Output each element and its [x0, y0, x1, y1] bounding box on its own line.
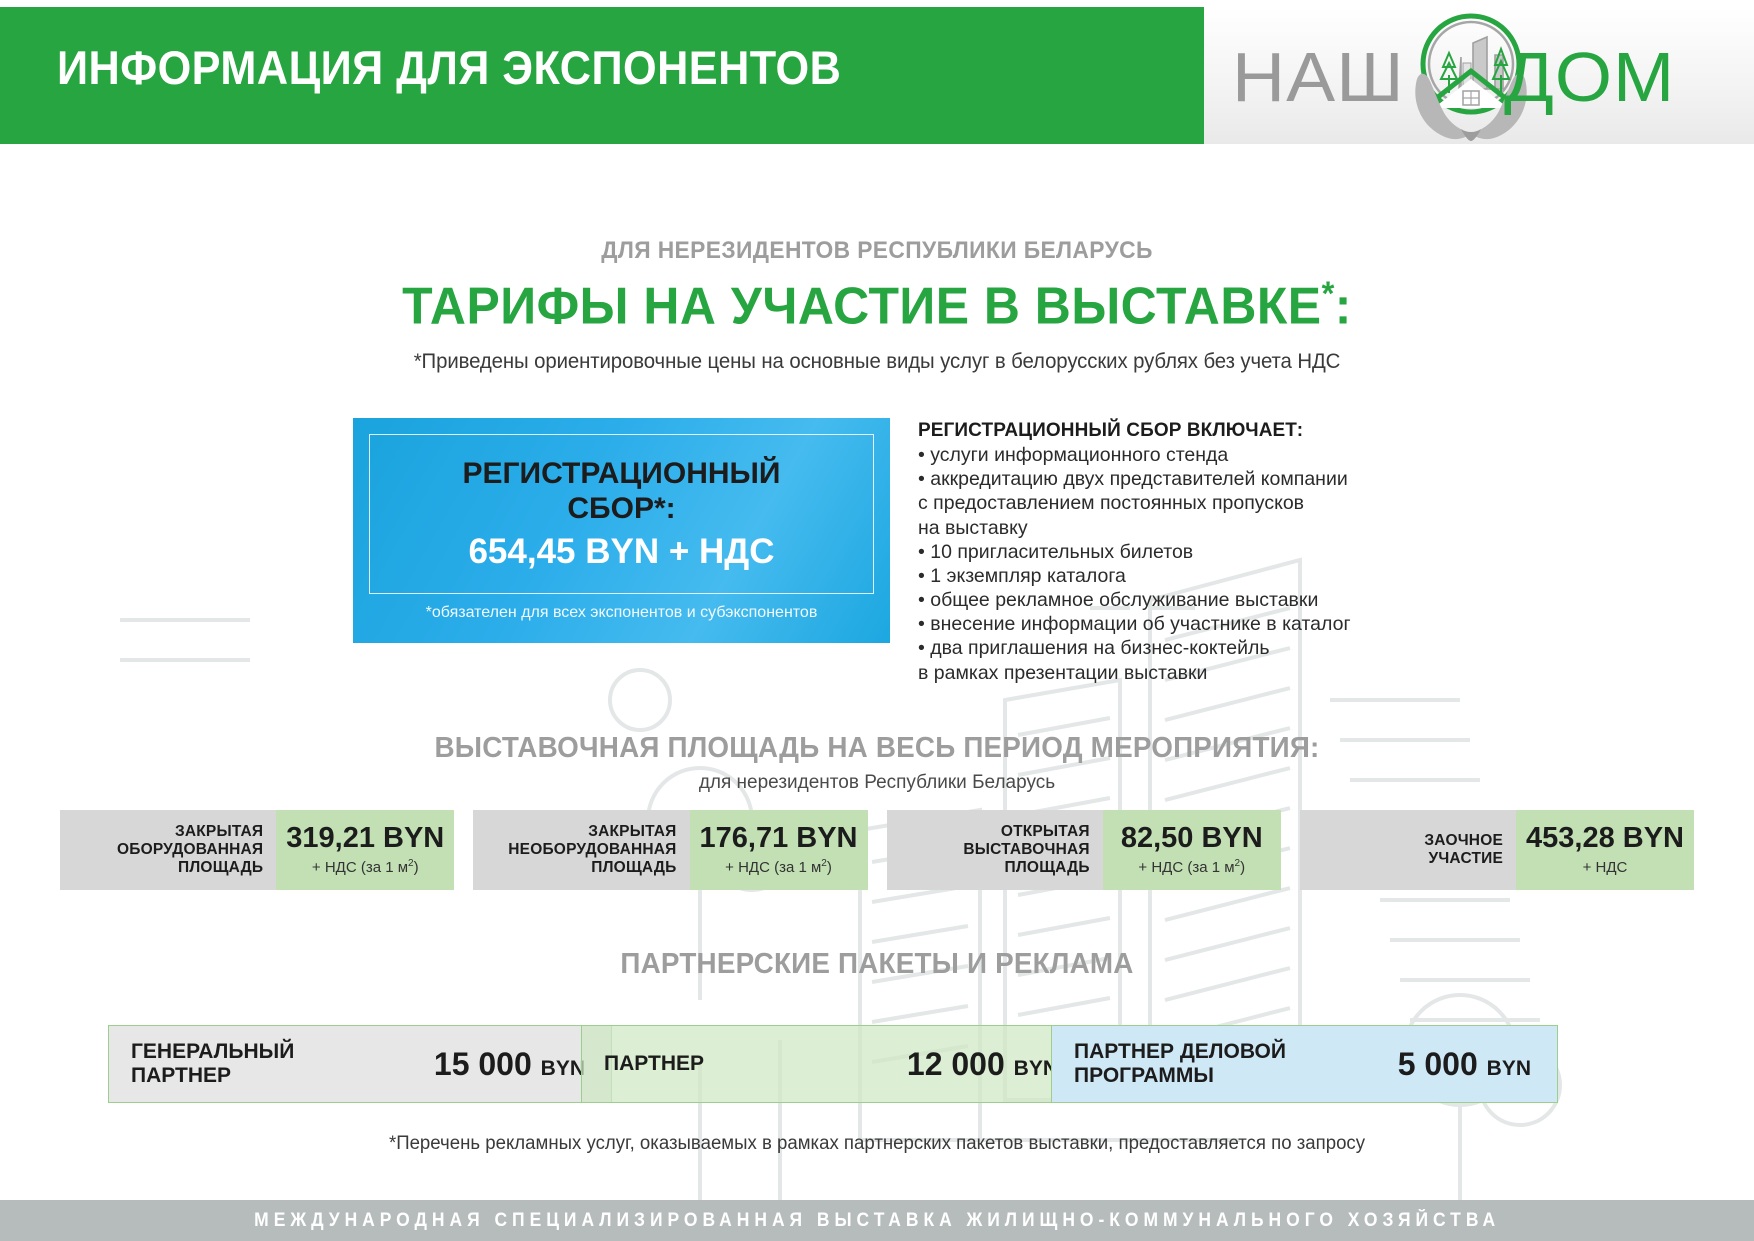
list-item: • услуги информационного стенда — [918, 443, 1518, 467]
area-price-cards: ЗАКРЫТАЯ ОБОРУДОВАННАЯ ПЛОЩАДЬ 319,21 BY… — [60, 810, 1694, 890]
area-card-amount: 176,71 BYN — [700, 824, 858, 853]
partners-section-heading: ПАРТНЕРСКИЕ ПАКЕТЫ И РЕКЛАМА — [35, 948, 1719, 981]
partner-card-currency: BYN — [541, 1057, 585, 1080]
registration-fee-title: РЕГИСТРАЦИОННЫЙ СБОР*: — [412, 456, 832, 527]
area-card-price: 319,21 BYN + НДС (за 1 м2) — [276, 810, 454, 890]
area-card-vat: + НДС (за 1 м2) — [725, 858, 832, 876]
list-item: • аккредитацию двух представителей компа… — [918, 467, 1518, 540]
partner-card-amount: 5 000 — [1398, 1046, 1478, 1082]
area-card-vat: + НДС (за 1 м2) — [312, 858, 419, 876]
area-card-vat-tail: ) — [414, 859, 419, 876]
area-card-vat-text: + НДС — [1583, 859, 1628, 876]
registration-includes-block: РЕГИСТРАЦИОННЫЙ СБОР ВКЛЮЧАЕТ: • услуги … — [918, 420, 1518, 685]
area-card-vat-text: + НДС (за 1 м — [312, 859, 408, 876]
area-section-heading: ВЫСТАВОЧНАЯ ПЛОЩАДЬ НА ВЕСЬ ПЕРИОД МЕРОП… — [35, 732, 1719, 765]
partner-card: ПАРТНЕР ДЕЛОВОЙ ПРОГРАММЫ 5 000 BYN — [1051, 1025, 1558, 1103]
area-card: ОТКРЫТАЯ ВЫСТАВОЧНАЯ ПЛОЩАДЬ 82,50 BYN +… — [887, 810, 1281, 890]
area-card-label: ЗАКРЫТАЯ ОБОРУДОВАННАЯ ПЛОЩАДЬ — [60, 810, 276, 890]
partner-card-currency: BYN — [1487, 1057, 1531, 1080]
list-item: • общее рекламное обслуживание выставки — [918, 588, 1518, 612]
area-card-label: ЗАОЧНОЕ УЧАСТИЕ — [1300, 810, 1516, 890]
advertising-note: *Перечень рекламных услуг, оказываемых в… — [18, 1133, 1737, 1155]
area-card-label: ОТКРЫТАЯ ВЫСТАВОЧНАЯ ПЛОЩАДЬ — [887, 810, 1103, 890]
area-card-price: 82,50 BYN + НДС (за 1 м2) — [1103, 810, 1281, 890]
registration-includes-title: РЕГИСТРАЦИОННЫЙ СБОР ВКЛЮЧАЕТ: — [918, 420, 1518, 442]
partner-card-name: ПАРТНЕР — [582, 1052, 907, 1076]
price-disclaimer: *Приведены ориентировочные цены на основ… — [26, 350, 1727, 374]
page-footer: МЕЖДУНАРОДНАЯ СПЕЦИАЛИЗИРОВАННАЯ ВЫСТАВК… — [0, 1200, 1754, 1241]
area-card: ЗАКРЫТАЯ ОБОРУДОВАННАЯ ПЛОЩАДЬ 319,21 BY… — [60, 810, 454, 890]
partner-card: ПАРТНЕР 12 000 BYN — [581, 1025, 1085, 1103]
area-card-amount: 453,28 BYN — [1526, 824, 1684, 853]
registration-fee-inner: РЕГИСТРАЦИОННЫЙ СБОР*: 654,45 BYN + НДС — [369, 434, 874, 594]
area-card-price: 176,71 BYN + НДС (за 1 м2) — [690, 810, 868, 890]
main-title: ТАРИФЫ НА УЧАСТИЕ В ВЫСТАВКЕ*: — [35, 275, 1719, 336]
area-card-vat-tail: ) — [1240, 859, 1245, 876]
main-title-colon: : — [1335, 277, 1352, 335]
area-card-label: ЗАКРЫТАЯ НЕОБОРУДОВАННАЯ ПЛОЩАДЬ — [473, 810, 689, 890]
area-card: ЗАОЧНОЕ УЧАСТИЕ 453,28 BYN + НДС — [1300, 810, 1694, 890]
partner-card-name: ПАРТНЕР ДЕЛОВОЙ ПРОГРАММЫ — [1052, 1040, 1398, 1088]
list-item: • 1 экземпляр каталога — [918, 564, 1518, 588]
partner-card-amount: 12 000 — [907, 1046, 1005, 1082]
area-section-subheading: для нерезидентов Республики Беларусь — [0, 772, 1754, 794]
area-card-vat-text: + НДС (за 1 м — [725, 859, 821, 876]
eyebrow-text: ДЛЯ НЕРЕЗИДЕНТОВ РЕСПУБЛИКИ БЕЛАРУСЬ — [44, 237, 1710, 265]
area-card-amount: 82,50 BYN — [1121, 824, 1263, 853]
list-item: • два приглашения на бизнес-коктейль в р… — [918, 636, 1518, 684]
area-card-price: 453,28 BYN + НДС — [1516, 810, 1694, 890]
partner-price-cards: ГЕНЕРАЛЬНЫЙ ПАРТНЕР 15 000 BYN ПАРТНЕР 1… — [108, 1025, 1648, 1103]
area-card: ЗАКРЫТАЯ НЕОБОРУДОВАННАЯ ПЛОЩАДЬ 176,71 … — [473, 810, 867, 890]
registration-fee-price: 654,45 BYN + НДС — [468, 532, 774, 572]
partner-card-name: ГЕНЕРАЛЬНЫЙ ПАРТНЕР — [109, 1040, 434, 1088]
area-card-vat: + НДС — [1583, 858, 1628, 876]
registration-fee-card: РЕГИСТРАЦИОННЫЙ СБОР*: 654,45 BYN + НДС … — [353, 418, 890, 643]
list-item: • внесение информации об участнике в кат… — [918, 612, 1518, 636]
registration-fee-note: *обязателен для всех экспонентов и субэк… — [353, 604, 890, 622]
list-item: • 10 пригласительных билетов — [918, 540, 1518, 564]
area-card-vat: + НДС (за 1 м2) — [1138, 858, 1245, 876]
area-card-vat-tail: ) — [827, 859, 832, 876]
partner-card: ГЕНЕРАЛЬНЫЙ ПАРТНЕР 15 000 BYN — [108, 1025, 612, 1103]
area-card-amount: 319,21 BYN — [286, 824, 444, 853]
area-card-vat-text: + НДС (за 1 м — [1138, 859, 1234, 876]
footer-text: МЕЖДУНАРОДНАЯ СПЕЦИАЛИЗИРОВАННАЯ ВЫСТАВК… — [254, 1210, 1500, 1232]
partner-card-price: 5 000 BYN — [1398, 1046, 1557, 1083]
partner-card-amount: 15 000 — [434, 1046, 532, 1082]
main-title-asterisk: * — [1322, 275, 1335, 313]
main-title-text: ТАРИФЫ НА УЧАСТИЕ В ВЫСТАВКЕ — [402, 277, 1321, 335]
